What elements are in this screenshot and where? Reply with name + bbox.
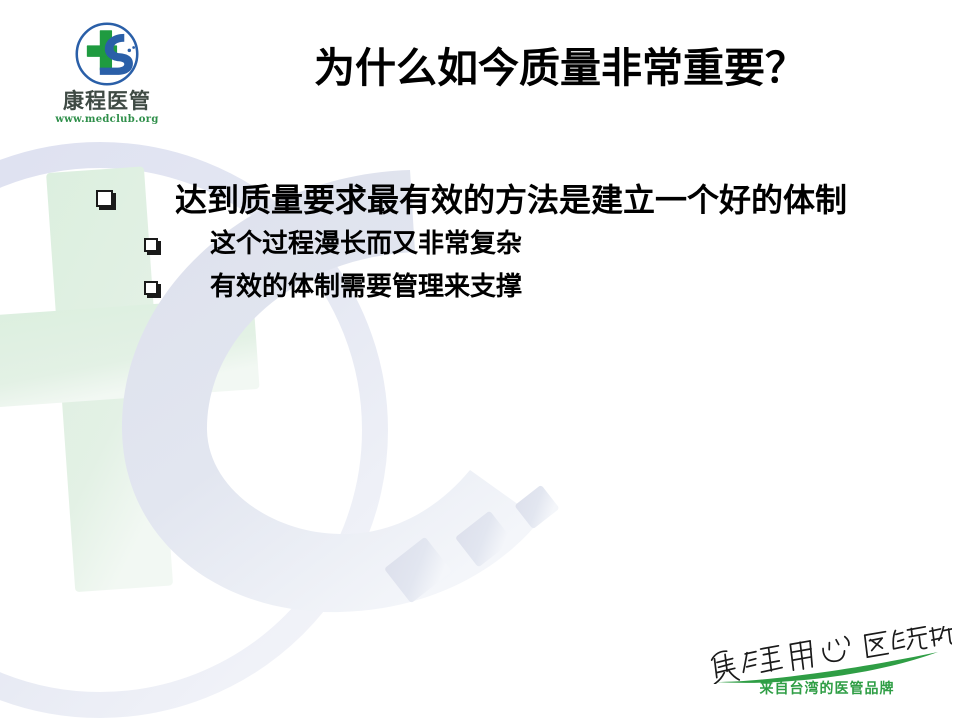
bullet-text: 这个过程漫长而又非常复杂 bbox=[210, 227, 522, 263]
bullet-text: 达到质量要求最有效的方法是建立一个好的体制 bbox=[175, 178, 847, 223]
footer-calligraphy-icon bbox=[702, 626, 952, 684]
slide-canvas: 康程医管 www.medclub.org 为什么如今质量非常重要？ 达到质量要求… bbox=[0, 0, 960, 720]
slide-title: 为什么如今质量非常重要？ bbox=[180, 46, 940, 92]
brand-logo-url: www.medclub.org bbox=[42, 115, 172, 125]
brand-logo-name: 康程医管 bbox=[42, 91, 172, 112]
brand-logo: 康程医管 www.medclub.org bbox=[42, 18, 172, 133]
hollow-square-bullet-icon bbox=[96, 190, 113, 207]
bullet-text: 有效的体制需要管理来支撑 bbox=[210, 270, 522, 306]
bullet-item-level2: 这个过程漫长而又非常复杂 bbox=[0, 227, 960, 263]
footer-tagline: 来自台湾的医管品牌 bbox=[702, 678, 952, 698]
footer-brand: 来自台湾的医管品牌 bbox=[702, 626, 952, 712]
medclub-circle-logo-icon bbox=[71, 18, 143, 90]
bullet-item-level1: 达到质量要求最有效的方法是建立一个好的体制 bbox=[0, 178, 960, 223]
slide-body: 达到质量要求最有效的方法是建立一个好的体制 这个过程漫长而又非常复杂 有效的体制… bbox=[0, 178, 960, 313]
bullet-item-level2: 有效的体制需要管理来支撑 bbox=[0, 270, 960, 306]
hollow-square-bullet-icon bbox=[144, 238, 158, 252]
hollow-square-bullet-icon bbox=[144, 281, 158, 295]
